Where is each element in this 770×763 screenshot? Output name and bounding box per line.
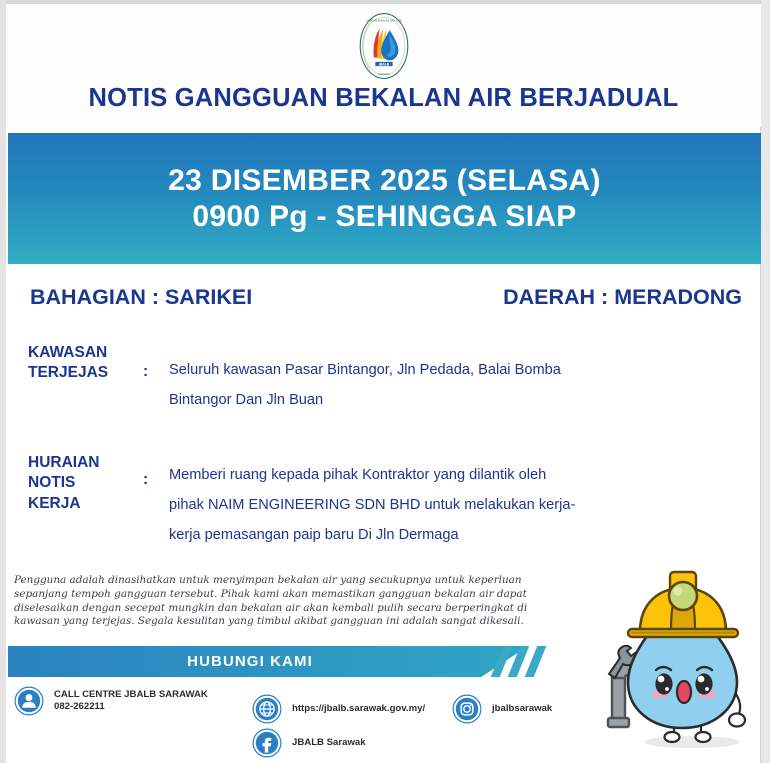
disclaimer-text: Pengguna adalah dinasihatkan untuk menyi…	[14, 574, 554, 629]
work-description-colon: :	[143, 453, 169, 489]
contact-instagram-text: jbalbsarawak	[492, 703, 552, 715]
contact-call-centre[interactable]: CALL CENTRE JBALB SARAWAK 082-262211	[14, 686, 208, 716]
contact-facebook[interactable]: JBALB Sarawak	[252, 728, 366, 758]
contact-instagram[interactable]: jbalbsarawak	[452, 694, 552, 724]
banner-date-line: 23 DISEMBER 2025 (SELASA)	[168, 163, 601, 198]
notice-header: JABATAN BEKALAN DAN LAIN SARAWAK JBALB N…	[6, 4, 761, 127]
work-description-field: HURAIAN NOTIS KERJA : Memberi ruang kepa…	[28, 453, 575, 551]
contact-website[interactable]: https://jbalb.sarawak.gov.my/	[252, 694, 425, 724]
district-label: DAERAH : MERADONG	[503, 285, 742, 310]
affected-area-line-2: Bintangor Dan Jln Buan	[169, 386, 561, 416]
contact-bar: HUBUNGI KAMI	[8, 646, 528, 677]
contact-facebook-text: JBALB Sarawak	[292, 737, 366, 749]
work-description-line-2: pihak NAIM ENGINEERING SDN BHD untuk mel…	[169, 491, 575, 521]
contact-facebook-handle: JBALB Sarawak	[292, 737, 366, 749]
affected-area-line-1: Seluruh kawasan Pasar Bintangor, Jln Ped…	[169, 356, 561, 386]
contact-bar-title: HUBUNGI KAMI	[187, 653, 313, 670]
affected-area-label: KAWASAN TERJEJAS	[28, 343, 143, 384]
work-description-line-1: Memberi ruang kepada pihak Kontraktor ya…	[169, 461, 575, 491]
svg-text:JABATAN BEKALAN DAN LAIN: JABATAN BEKALAN DAN LAIN	[365, 20, 401, 23]
svg-text:JBALB: JBALB	[377, 62, 389, 66]
contact-call-centre-text: CALL CENTRE JBALB SARAWAK 082-262211	[54, 689, 208, 714]
affected-area-colon: :	[143, 343, 169, 381]
notice-page: JABATAN BEKALAN DAN LAIN SARAWAK JBALB N…	[0, 0, 770, 763]
affected-area-value: Seluruh kawasan Pasar Bintangor, Jln Ped…	[169, 343, 561, 416]
jbalb-sarawak-seal-icon: JABATAN BEKALAN DAN LAIN SARAWAK JBALB	[348, 10, 420, 82]
work-description-label: HURAIAN NOTIS KERJA	[28, 453, 143, 514]
svg-text:SARAWAK: SARAWAK	[378, 73, 390, 76]
work-description-line-3: kerja pemasangan paip baru Di Jln Dermag…	[169, 521, 575, 551]
water-droplet-mascot-icon	[600, 560, 765, 760]
page-title: NOTIS GANGGUAN BEKALAN AIR BERJADUAL	[6, 84, 761, 113]
decorative-slash-icon	[525, 646, 547, 677]
region-row: BAHAGIAN : SARIKEI DAERAH : MERADONG	[30, 285, 742, 310]
banner-time-line: 0900 Pg - SEHINGGA SIAP	[192, 199, 576, 234]
contact-bar-wrapper: HUBUNGI KAMI	[8, 646, 578, 677]
globe-icon	[252, 694, 282, 724]
contact-call-centre-line-2: 082-262211	[54, 701, 208, 713]
person-icon	[14, 686, 44, 716]
affected-area-field: KAWASAN TERJEJAS : Seluruh kawasan Pasar…	[28, 343, 561, 416]
contact-call-centre-line-1: CALL CENTRE JBALB SARAWAK	[54, 689, 208, 701]
division-label: BAHAGIAN : SARIKEI	[30, 285, 252, 310]
contact-website-url: https://jbalb.sarawak.gov.my/	[292, 703, 425, 715]
date-banner: 23 DISEMBER 2025 (SELASA) 0900 Pg - SEHI…	[8, 133, 761, 264]
contact-website-text: https://jbalb.sarawak.gov.my/	[292, 703, 425, 715]
work-description-value: Memberi ruang kepada pihak Kontraktor ya…	[169, 453, 575, 551]
instagram-icon	[452, 694, 482, 724]
contact-instagram-handle: jbalbsarawak	[492, 703, 552, 715]
facebook-icon	[252, 728, 282, 758]
